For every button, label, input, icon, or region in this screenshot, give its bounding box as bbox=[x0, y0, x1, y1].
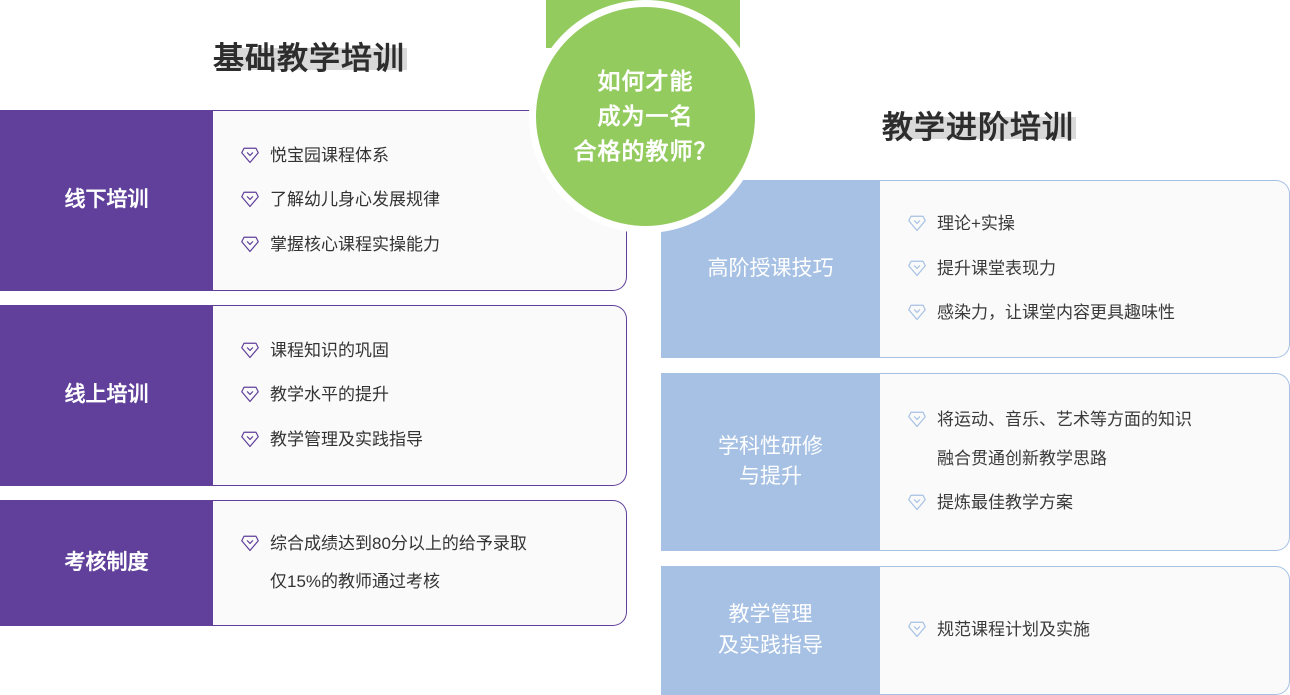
gem-chevron-icon bbox=[241, 341, 259, 359]
gem-chevron-icon bbox=[241, 190, 259, 208]
list-item-text: 提升课堂表现力 bbox=[937, 256, 1056, 282]
list-item: 教学管理及实践指导 bbox=[241, 418, 626, 462]
section-title-left-text: 基础教学培训 bbox=[213, 41, 405, 76]
list-item-text: 课程知识的巩固 bbox=[270, 338, 389, 364]
gem-chevron-icon bbox=[908, 493, 926, 511]
badge-text: 如何才能 成为一名 合格的教师？ bbox=[574, 64, 718, 169]
gem-chevron-icon bbox=[908, 410, 926, 428]
row-label-online: 线上培训 bbox=[0, 305, 213, 486]
row-label-teaching-management: 教学管理 及实践指导 bbox=[661, 566, 880, 695]
list-item: 掌握核心课程实操能力 bbox=[241, 223, 626, 267]
row-label-subject-research: 学科性研修 与提升 bbox=[661, 373, 880, 551]
list-item: 课程知识的巩固 bbox=[241, 329, 626, 373]
list-item-text: 掌握核心课程实操能力 bbox=[270, 232, 440, 258]
list-item: 提炼最佳教学方案 bbox=[908, 481, 1289, 525]
list-item-text: 理论+实操 bbox=[937, 211, 1015, 237]
gem-chevron-icon bbox=[241, 534, 259, 552]
gem-chevron-icon bbox=[908, 303, 926, 321]
row-card-advanced-teaching: 理论+实操 提升课堂表现力 感染力，让课堂内容更具趣味性 bbox=[880, 180, 1290, 358]
bullet-list: 课程知识的巩固 教学水平的提升 教学管理及实践指导 bbox=[241, 329, 626, 462]
row-card-online: 课程知识的巩固 教学水平的提升 教学管理及实践指导 bbox=[213, 305, 627, 486]
gem-chevron-icon bbox=[241, 385, 259, 403]
section-title-left: 基础教学培训 bbox=[213, 43, 405, 74]
list-item-text: 教学管理及实践指导 bbox=[270, 427, 423, 453]
section-title-right-text: 教学进阶培训 bbox=[882, 110, 1074, 145]
training-row-subject-research: 学科性研修 与提升 将运动、音乐、艺术等方面的知识 融合贯通创新教学思路 bbox=[661, 373, 1290, 551]
row-label-text: 教学管理 及实践指导 bbox=[718, 600, 823, 661]
training-row-advanced-teaching: 高阶授课技巧 理论+实操 提升课堂表现力 bbox=[661, 180, 1290, 358]
bullet-list: 将运动、音乐、艺术等方面的知识 融合贯通创新教学思路 提炼最佳教学方案 bbox=[908, 398, 1289, 525]
row-label-assessment: 考核制度 bbox=[0, 500, 213, 626]
gem-chevron-icon bbox=[241, 430, 259, 448]
training-row-teaching-management: 教学管理 及实践指导 规范课程计划及实施 bbox=[661, 566, 1290, 695]
list-item-text: 悦宝园课程体系 bbox=[270, 143, 389, 169]
gem-chevron-icon bbox=[908, 259, 926, 277]
gem-chevron-icon bbox=[241, 235, 259, 253]
list-item: 综合成绩达到80分以上的给予录取 仅15%的教师通过考核 bbox=[241, 522, 626, 605]
gem-chevron-icon bbox=[241, 146, 259, 164]
badge-line-3: 合格的教师？ bbox=[574, 134, 718, 169]
list-item: 理论+实操 bbox=[908, 202, 1289, 246]
row-card-teaching-management: 规范课程计划及实施 bbox=[880, 566, 1290, 695]
bullet-list: 综合成绩达到80分以上的给予录取 仅15%的教师通过考核 bbox=[241, 522, 626, 605]
section-title-right: 教学进阶培训 bbox=[882, 112, 1074, 143]
bullet-list: 理论+实操 提升课堂表现力 感染力，让课堂内容更具趣味性 bbox=[908, 202, 1289, 335]
gem-chevron-icon bbox=[908, 620, 926, 638]
training-row-assessment: 考核制度 综合成绩达到80分以上的给予录取 仅15%的教师通过考核 bbox=[0, 500, 627, 626]
list-item: 感染力，让课堂内容更具趣味性 bbox=[908, 291, 1289, 335]
row-label-offline: 线下培训 bbox=[0, 110, 213, 291]
badge-line-2: 成为一名 bbox=[574, 99, 718, 134]
row-card-assessment: 综合成绩达到80分以上的给予录取 仅15%的教师通过考核 bbox=[213, 500, 627, 626]
list-item: 将运动、音乐、艺术等方面的知识 融合贯通创新教学思路 bbox=[908, 398, 1289, 481]
list-item-text: 了解幼儿身心发展规律 bbox=[270, 187, 440, 213]
list-item-text: 教学水平的提升 bbox=[270, 382, 389, 408]
list-item: 提升课堂表现力 bbox=[908, 247, 1289, 291]
list-item-text: 将运动、音乐、艺术等方面的知识 融合贯通创新教学思路 bbox=[937, 407, 1192, 472]
list-item-text: 综合成绩达到80分以上的给予录取 仅15%的教师通过考核 bbox=[270, 531, 527, 596]
list-item-text: 规范课程计划及实施 bbox=[937, 617, 1090, 643]
gem-chevron-icon bbox=[908, 214, 926, 232]
row-label-text: 学科性研修 与提升 bbox=[718, 432, 823, 493]
badge-line-1: 如何才能 bbox=[574, 64, 718, 99]
list-item-text: 提炼最佳教学方案 bbox=[937, 490, 1073, 516]
list-item: 规范课程计划及实施 bbox=[908, 608, 1289, 652]
infographic-canvas: 基础教学培训 教学进阶培训 线下培训 悦宝园课程体系 bbox=[0, 0, 1290, 695]
list-item: 教学水平的提升 bbox=[241, 373, 626, 417]
list-item-text: 感染力，让课堂内容更具趣味性 bbox=[937, 300, 1175, 326]
bullet-list: 规范课程计划及实施 bbox=[908, 608, 1289, 652]
row-card-subject-research: 将运动、音乐、艺术等方面的知识 融合贯通创新教学思路 提炼最佳教学方案 bbox=[880, 373, 1290, 551]
central-question-badge: 如何才能 成为一名 合格的教师？ bbox=[529, 0, 762, 233]
training-row-online: 线上培训 课程知识的巩固 教学水平的提升 bbox=[0, 305, 627, 486]
